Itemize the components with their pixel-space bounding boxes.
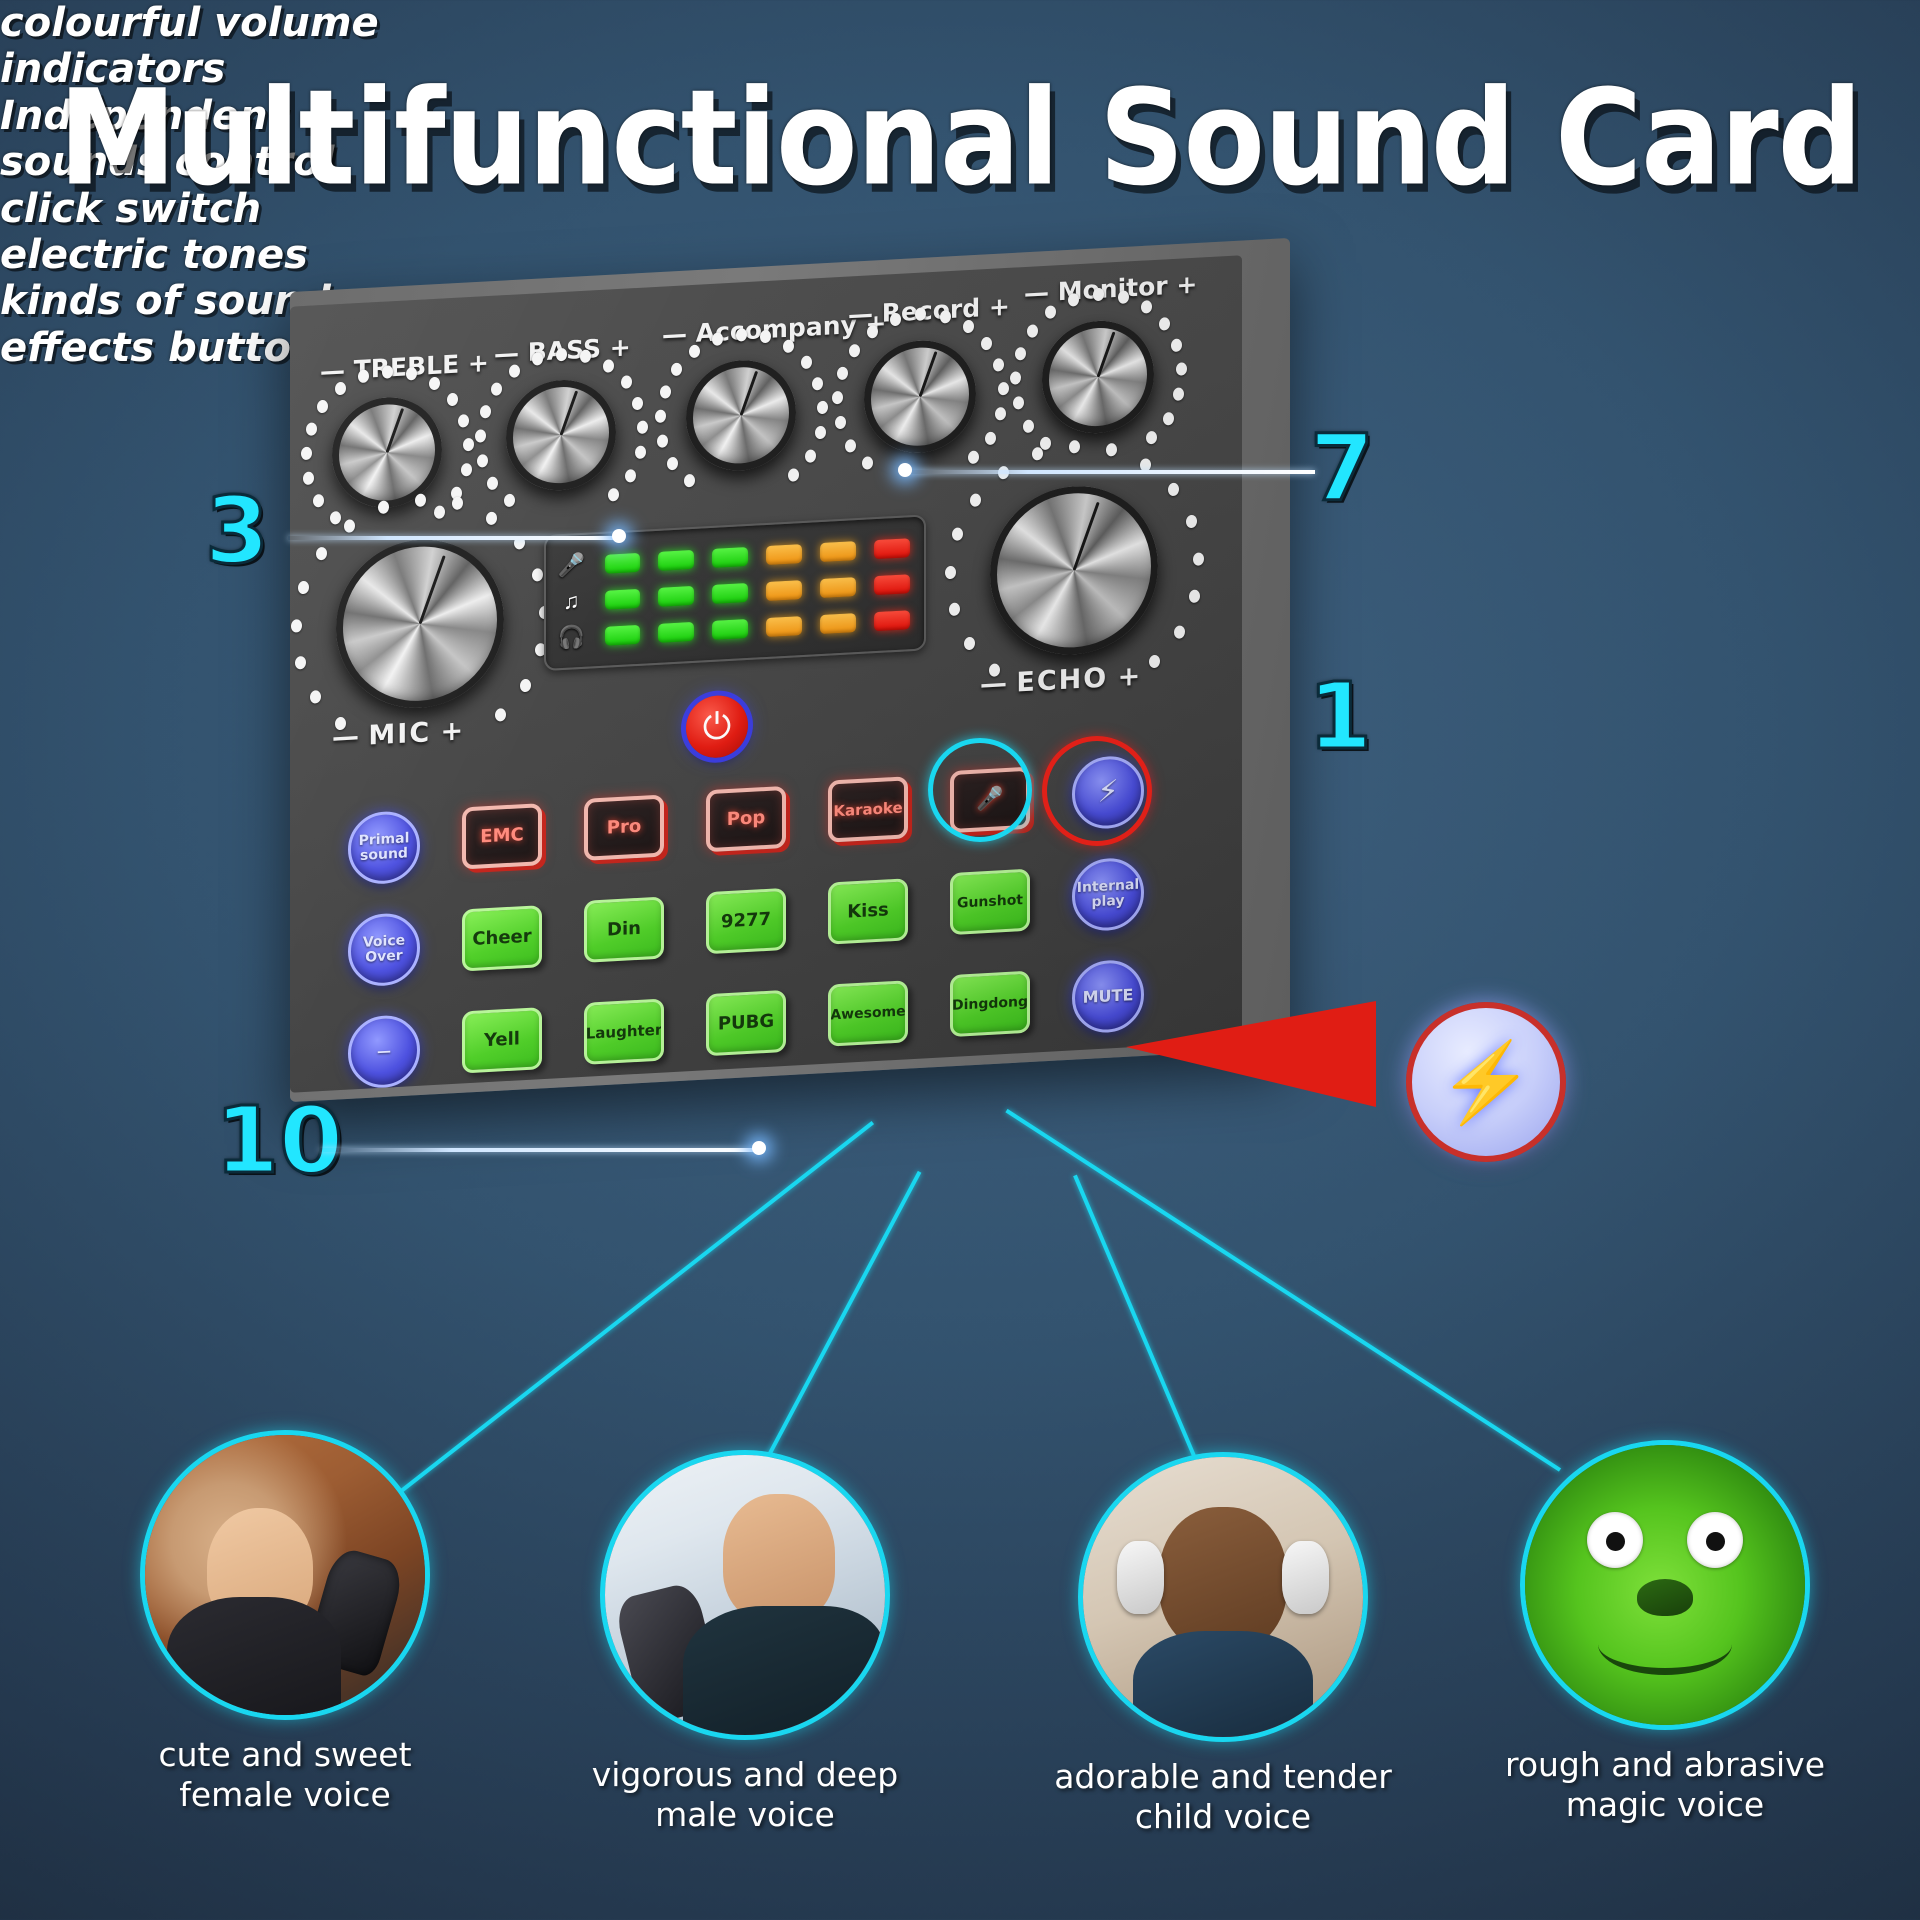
knob-dot [295,656,306,670]
knob-dot [805,449,816,463]
button-label: Gunshot [957,893,1023,911]
monster-snout-icon [1637,1579,1693,1615]
knob-dot [477,454,488,468]
connector-line-magic [1005,1109,1561,1472]
knob-dial[interactable] [686,357,796,473]
annotation-electric-tones: 1 [1308,676,1372,759]
caption-line-1: adorable and tender [1033,1757,1413,1797]
voice-photo-child [1078,1452,1368,1742]
leader-line-sounds [905,470,1315,474]
annotation-sound-effects: 10 [215,1100,343,1183]
knob-dot [447,393,458,407]
knob-dot [458,414,469,428]
knob-dot [689,345,700,359]
knob-dot [382,365,393,379]
knob-minus: — [662,319,687,349]
knob-plus: + [441,715,464,747]
music-mixer-icon: ♫ [556,588,587,616]
connector-line-female [399,1121,874,1494]
button-karaoke[interactable]: Karaoke [828,776,908,842]
knob-plus: + [989,292,1010,322]
knob-dot [415,493,426,507]
knob-dial[interactable] [864,338,976,456]
knob-plus: + [1118,661,1141,693]
voice-sample-magic[interactable]: rough and abrasive magic voice [1520,1440,1810,1730]
annotation-line-1: colourful volume [0,0,1920,46]
annotation-number: 1 [1308,676,1372,759]
electric-tone-callout-bubble: ⚡ [1406,1002,1566,1162]
led-indicator [820,541,856,562]
power-icon: ⏻ [703,708,731,746]
knob-dot [845,439,856,453]
knob-dot [316,547,327,561]
button-pop[interactable]: Pop [706,786,786,852]
knob-dot [486,512,497,526]
knob-dot [1023,419,1034,433]
knob-dot [817,401,828,415]
leader-line-volume [288,536,618,540]
knob-label: TREBLE [354,350,459,385]
voice-sample-male[interactable]: vigorous and deep male voice [600,1450,890,1740]
knob-dot [1174,625,1185,639]
annotation-number: 7 [1310,428,1374,511]
knob-dot [330,511,341,525]
connector-line-child [1073,1175,1202,1471]
knob-dot [970,494,981,508]
button-label: Primal sound [351,831,417,864]
annotation-volume-indicators: 3 [205,490,269,573]
caption-line-2: child voice [1033,1797,1413,1837]
knob-dot [475,430,486,444]
annotation-number: 3 [205,490,269,573]
knob-dot [788,469,799,483]
knob-dot [480,405,491,419]
button-yell[interactable]: Yell [462,1007,542,1073]
button-label: Yell [484,1030,520,1050]
knob-dot [1173,388,1184,402]
highlight-ring-voice-change [928,738,1032,842]
knob-dot [945,565,956,579]
highlight-ring-electric-tone [1042,736,1152,846]
connector-line-male [758,1171,921,1473]
knob-dot [1032,447,1043,461]
headphone-cup-left-icon [1117,1541,1165,1614]
button-label: Din [607,920,641,940]
voice-sample-female[interactable]: cute and sweet female voice [140,1430,430,1720]
knob-dot [657,434,668,448]
knob-dot [1013,396,1024,410]
led-indicator [658,549,694,570]
knob-dot [815,426,826,440]
knob-minus: — [1024,278,1049,308]
button-label: Internal play [1075,878,1141,911]
voice-caption-child: adorable and tender child voice [1033,1757,1413,1836]
caption-line-1: cute and sweet [95,1735,475,1775]
led-indicator [712,618,748,639]
button-label: — [377,1044,391,1059]
leader-endpoint-effects [752,1141,766,1155]
led-indicator [766,616,802,637]
page-title: Multifunctional Sound Card [0,62,1920,215]
monster-grin-icon [1598,1613,1732,1675]
knob-dot [434,506,445,520]
knob-dot [1106,443,1117,457]
button-dingdong[interactable]: Dingdong [950,971,1030,1037]
knob-dot [783,340,794,354]
knob-dial[interactable] [990,482,1158,659]
button-primal-sound[interactable]: Primal sound [348,810,420,886]
photo-child-headphones [1083,1457,1363,1737]
button-label: Pro [607,818,641,838]
knob-dot [1189,590,1200,604]
button-round-row3[interactable]: — [348,1014,420,1090]
knob-dot [556,347,567,361]
knob-dot [1146,431,1157,445]
knob-dot [491,383,502,397]
knob-dial[interactable] [336,535,504,712]
knob-dot [963,320,974,334]
knob-dot [461,463,472,477]
voice-caption-female: cute and sweet female voice [95,1735,475,1814]
led-indicator [874,610,910,631]
led-indicator [766,580,802,601]
caption-line-2: female voice [95,1775,475,1815]
knob-dial[interactable] [1042,318,1154,436]
knob-dot [1168,483,1179,497]
knob-dot [684,474,695,488]
knob-dial[interactable] [332,395,442,511]
microphone-prop-icon [613,1581,726,1726]
knob-dot [635,446,646,460]
knob-dot [487,476,498,490]
voice-photo-male [600,1450,890,1740]
knob-dot [949,603,960,617]
button-label: EMC [480,826,523,846]
knob-dot [1171,338,1182,352]
button-emc[interactable]: EMC [462,803,542,869]
annotation-sounds-control: 7 [1310,428,1374,511]
knob-dot [344,519,355,533]
knob-minus: — [980,668,1007,700]
button-kiss[interactable]: Kiss [828,878,908,944]
knob-dot [532,569,543,583]
knob-dot [981,336,992,350]
button-din[interactable]: Din [584,897,664,963]
knob-dot [463,438,474,452]
knob-dot [1149,655,1160,669]
sound-card-device: — TREBLE + — BASS + — Accompany + [290,265,1290,1075]
button-9277[interactable]: 9277 [706,888,786,954]
knob-dot [952,528,963,542]
led-indicator [712,546,748,567]
monster-eye-right-icon [1687,1512,1743,1568]
knob-dot [985,431,996,445]
knob-dot [621,376,632,390]
knob-dial[interactable] [506,377,616,493]
knob-dot [998,382,1009,396]
knob-dot [812,377,823,391]
knob-dot [1193,552,1204,566]
knob-plus: + [468,348,489,378]
voice-sample-child[interactable]: adorable and tender child voice [1078,1452,1368,1742]
knob-dot [291,619,302,633]
button-label: Kiss [847,901,889,921]
device-front-panel: — TREBLE + — BASS + — Accompany + [290,255,1242,1093]
knob-dot [625,469,636,483]
lightning-bolt-icon: ⚡ [1437,1043,1534,1121]
microphone-prop-icon [304,1545,406,1678]
led-indicator [820,613,856,634]
knob-dot [1159,317,1170,331]
knob-dot [655,410,666,424]
button-label: Laughter [586,1022,663,1041]
button-laughter[interactable]: Laughter [584,999,664,1065]
knob-dot [1069,440,1080,454]
button-label: Awesome [830,1004,905,1022]
caption-line-1: vigorous and deep [555,1755,935,1795]
knob-dot [452,497,463,511]
knob-dot [1141,300,1152,314]
led-indicator [605,552,641,573]
photo-female-podcaster [145,1435,425,1715]
knob-dot [1163,411,1174,425]
knob-dot [608,488,619,502]
knob-label: MIC [368,717,431,751]
arrow-electric-tone [1126,995,1446,1115]
button-label: 9277 [721,911,771,932]
knob-dot [995,407,1006,421]
leader-endpoint-sounds [898,463,912,477]
caption-line-2: male voice [555,1795,935,1835]
knob-dot [1186,515,1197,529]
knob-dot [429,377,440,391]
knob-dot [660,385,671,399]
knob-dot [832,391,843,405]
knob-dot [303,472,314,486]
button-cheer[interactable]: Cheer [462,905,542,971]
led-indicator [658,621,694,642]
button-pro[interactable]: Pro [584,795,664,861]
button-pubg[interactable]: PUBG [706,990,786,1056]
knob-dot [667,456,678,470]
knob-dot [964,636,975,650]
led-indicator [874,574,910,595]
button-internal-play[interactable]: Internal play [1072,857,1144,933]
button-label: Dingdong [952,995,1028,1013]
knob-dot [378,501,389,515]
annotation-number: 10 [215,1100,343,1183]
button-label: Pop [727,809,765,829]
led-indicator [658,585,694,606]
knob-dot [837,366,848,380]
button-label: Cheer [472,928,531,949]
knob-plus: + [1176,270,1197,300]
knob-dot [1015,347,1026,361]
knob-dot [801,356,812,370]
button-label: PUBG [718,1013,774,1034]
headphones-icon: 🎧 [556,624,587,652]
caption-line-2: magic voice [1475,1785,1855,1825]
knob-plus: + [610,332,631,362]
voice-caption-magic: rough and abrasive magic voice [1475,1745,1855,1824]
knob-dot [671,363,682,377]
knob-dot [504,494,515,508]
knob-dot [313,494,324,508]
button-awesome[interactable]: Awesome [828,980,908,1046]
knob-dot [849,343,860,357]
knob-dot [509,365,520,379]
knob-dot [736,328,747,342]
led-indicator [874,538,910,559]
knob-dot [835,416,846,430]
led-indicator [712,582,748,603]
voice-photo-magic [1520,1440,1810,1730]
button-gunshot[interactable]: Gunshot [950,869,1030,935]
knob-dot [1045,305,1056,319]
knob-dot [637,421,648,435]
photo-green-monster [1525,1445,1805,1725]
caption-line-1: rough and abrasive [1475,1745,1855,1785]
knob-dot [301,447,312,461]
knob-minus: — [332,721,359,753]
power-button[interactable]: ⏻ [686,694,748,759]
knob-dot [298,581,309,595]
knob-dot [862,457,873,471]
button-label: Karaoke [833,800,902,819]
leader-line-effects [320,1148,760,1152]
knob-dot [335,382,346,396]
knob-dot [1010,372,1021,386]
headphone-cup-right-icon [1282,1541,1330,1614]
knob-dot [632,397,643,411]
knob-dot [520,679,531,693]
button-voice-over[interactable]: Voice Over [348,912,420,988]
photo-male-podcaster [605,1455,885,1735]
knob-dot [1176,363,1187,377]
knob-dot [993,358,1004,372]
voice-photo-female [140,1430,430,1720]
led-indicator [820,577,856,598]
monster-eye-left-icon [1587,1512,1643,1568]
leader-endpoint-volume [612,529,626,543]
button-label: Voice Over [351,933,417,966]
led-indicator [766,544,802,565]
voice-caption-male: vigorous and deep male voice [555,1755,935,1834]
knob-label: ECHO [1016,662,1108,698]
led-row: 🎧 [556,606,910,651]
knob-dot [968,451,979,465]
led-indicator [605,624,641,645]
knob-dot [306,422,317,436]
led-indicator [605,588,641,609]
knob-dot [310,690,321,704]
knob-dot [603,360,614,374]
knob-dot [317,400,328,414]
knob-dot [495,708,506,722]
microphone-icon: 🎤 [556,552,587,580]
knob-dot [1027,324,1038,338]
